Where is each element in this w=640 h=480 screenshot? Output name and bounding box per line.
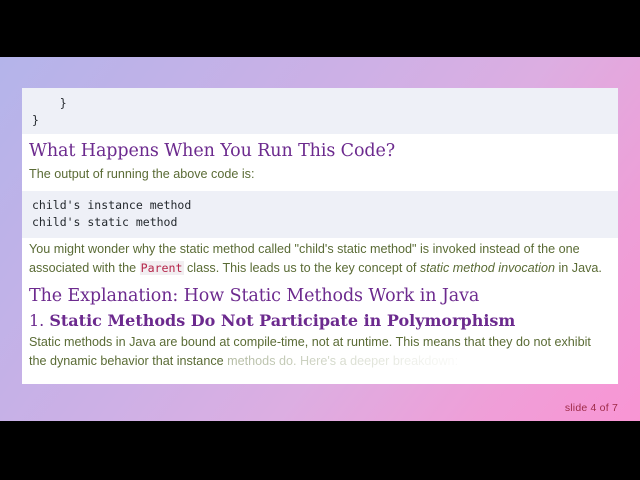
- code-block-output: child's instance method child's static m…: [22, 191, 618, 238]
- video-viewport: } } What Happens When You Run This Code?…: [0, 0, 640, 480]
- slide-card: } } What Happens When You Run This Code?…: [22, 88, 618, 384]
- heading-number: 1.: [29, 311, 44, 330]
- heading-numbered-1: 1. Static Methods Do Not Participate in …: [22, 311, 618, 330]
- explain-italic-term: static method invocation: [420, 261, 555, 275]
- heading-the-explanation: The Explanation: How Static Methods Work…: [22, 286, 618, 306]
- paragraph-static-methods: Static methods in Java are bound at comp…: [22, 333, 618, 372]
- explain-part-3: in Java.: [555, 261, 602, 275]
- code-block-tail: } }: [22, 88, 618, 134]
- slide-stage: } } What Happens When You Run This Code?…: [0, 57, 640, 421]
- inline-code-parent: Parent: [140, 261, 184, 275]
- static-para-fading: methods do. Here's a deeper breakdown:: [227, 354, 458, 368]
- paragraph-explain: You might wonder why the static method c…: [22, 240, 618, 279]
- letterbox-top: [0, 0, 640, 57]
- heading-what-happens: What Happens When You Run This Code?: [22, 141, 618, 161]
- explain-part-2: class. This leads us to the key concept …: [184, 261, 420, 275]
- slide-card-inner: } } What Happens When You Run This Code?…: [22, 88, 618, 384]
- paragraph-output-intro: The output of running the above code is:: [22, 165, 618, 185]
- slide-counter: slide 4 of 7: [565, 402, 618, 414]
- letterbox-bottom: [0, 421, 640, 480]
- heading-numbered-text: Static Methods Do Not Participate in Pol…: [49, 311, 515, 330]
